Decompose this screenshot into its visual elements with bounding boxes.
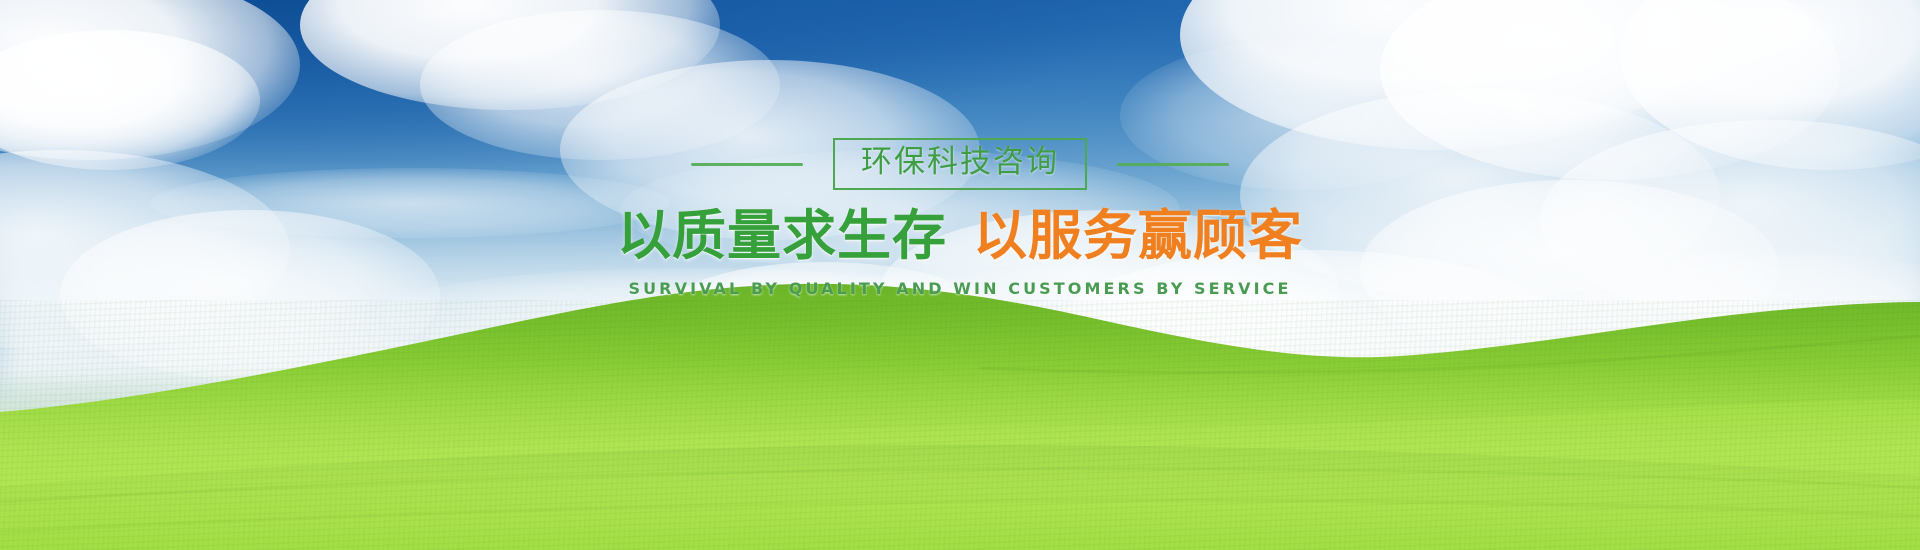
decorative-rule-right: [1117, 163, 1229, 166]
headline-segment-orange: 以服务赢顾客: [973, 204, 1303, 267]
title-row: 环保科技咨询: [691, 138, 1229, 190]
decorative-rule-left: [691, 163, 803, 166]
subtitle: SURVIVAL BY QUALITY AND WIN CUSTOMERS BY…: [628, 279, 1291, 298]
title-box: 环保科技咨询: [833, 138, 1087, 190]
headline: 以质量求生存以服务赢顾客: [617, 206, 1303, 266]
title-box-label: 环保科技咨询: [861, 144, 1059, 180]
hero-banner: 环保科技咨询 以质量求生存以服务赢顾客 SURVIVAL BY QUALITY …: [0, 0, 1920, 550]
banner-content: 环保科技咨询 以质量求生存以服务赢顾客 SURVIVAL BY QUALITY …: [0, 138, 1920, 298]
headline-segment-green: 以质量求生存: [617, 204, 947, 267]
